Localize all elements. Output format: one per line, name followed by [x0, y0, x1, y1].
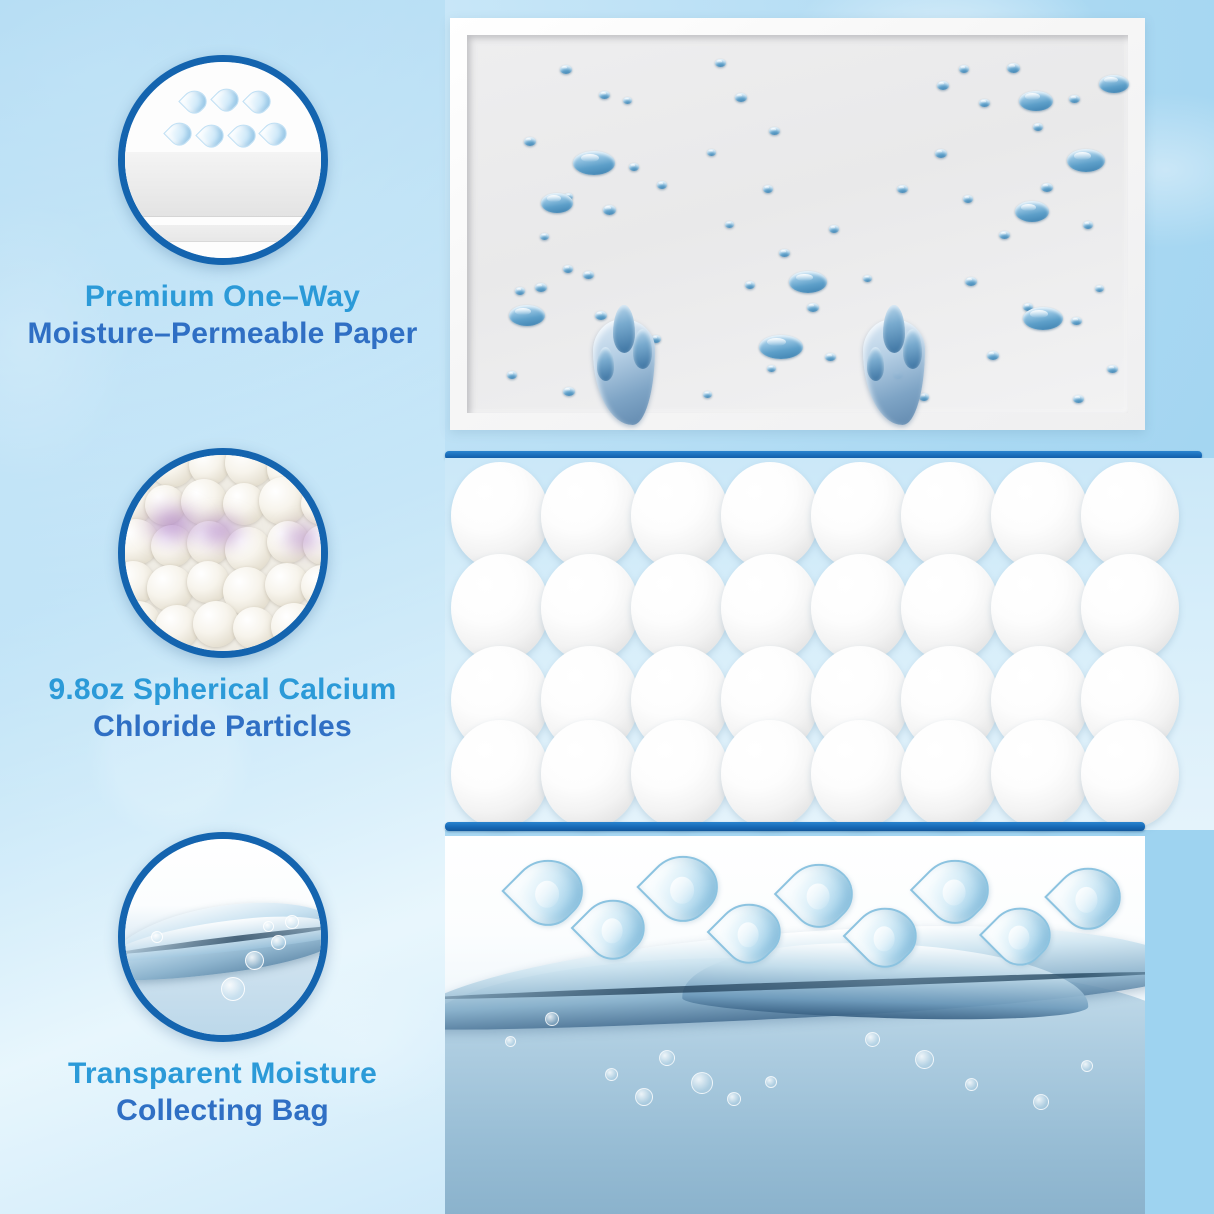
- feature-caption: Transparent Moisture Collecting Bag: [0, 1056, 445, 1129]
- falling-droplet: [636, 840, 729, 933]
- feature-caption-line1: 9.8oz Spherical Calcium: [0, 672, 445, 709]
- water-surface-icon: [118, 832, 328, 1042]
- droplet-cluster: [593, 319, 655, 425]
- feature-item-collecting-bag: Transparent Moisture Collecting Bag: [0, 832, 445, 1129]
- infographic-canvas: Premium One–Way Moisture–Permeable Paper: [0, 0, 1214, 1214]
- feature-item-calcium-chloride: 9.8oz Spherical Calcium Chloride Particl…: [0, 448, 445, 745]
- feature-caption-line1: Transparent Moisture: [0, 1056, 445, 1093]
- feature-caption-line2: Moisture–Permeable Paper: [0, 316, 445, 353]
- product-cross-section-diagram: [445, 0, 1214, 1214]
- feature-caption: 9.8oz Spherical Calcium Chloride Particl…: [0, 672, 445, 745]
- feature-item-permeable-paper: Premium One–Way Moisture–Permeable Paper: [0, 55, 445, 352]
- water-droplets-on-paper-icon: [118, 55, 328, 265]
- feature-list: Premium One–Way Moisture–Permeable Paper: [0, 0, 445, 1214]
- falling-droplet: [910, 845, 1001, 936]
- droplet-cluster: [863, 319, 925, 425]
- falling-droplet: [774, 849, 865, 940]
- panel-inner-surface: [467, 35, 1128, 413]
- falling-droplet: [1044, 853, 1132, 941]
- calcium-chloride-beads-icon: [118, 448, 328, 658]
- water-collection-layer: [445, 836, 1145, 1214]
- calcium-chloride-bead-layer: [445, 458, 1214, 830]
- feature-caption-line1: Premium One–Way: [0, 279, 445, 316]
- feature-caption: Premium One–Way Moisture–Permeable Paper: [0, 279, 445, 352]
- moisture-absorbing-panel: [450, 18, 1145, 430]
- feature-caption-line2: Collecting Bag: [0, 1093, 445, 1130]
- feature-caption-line2: Chloride Particles: [0, 709, 445, 746]
- layer-divider-bottom: [445, 822, 1145, 831]
